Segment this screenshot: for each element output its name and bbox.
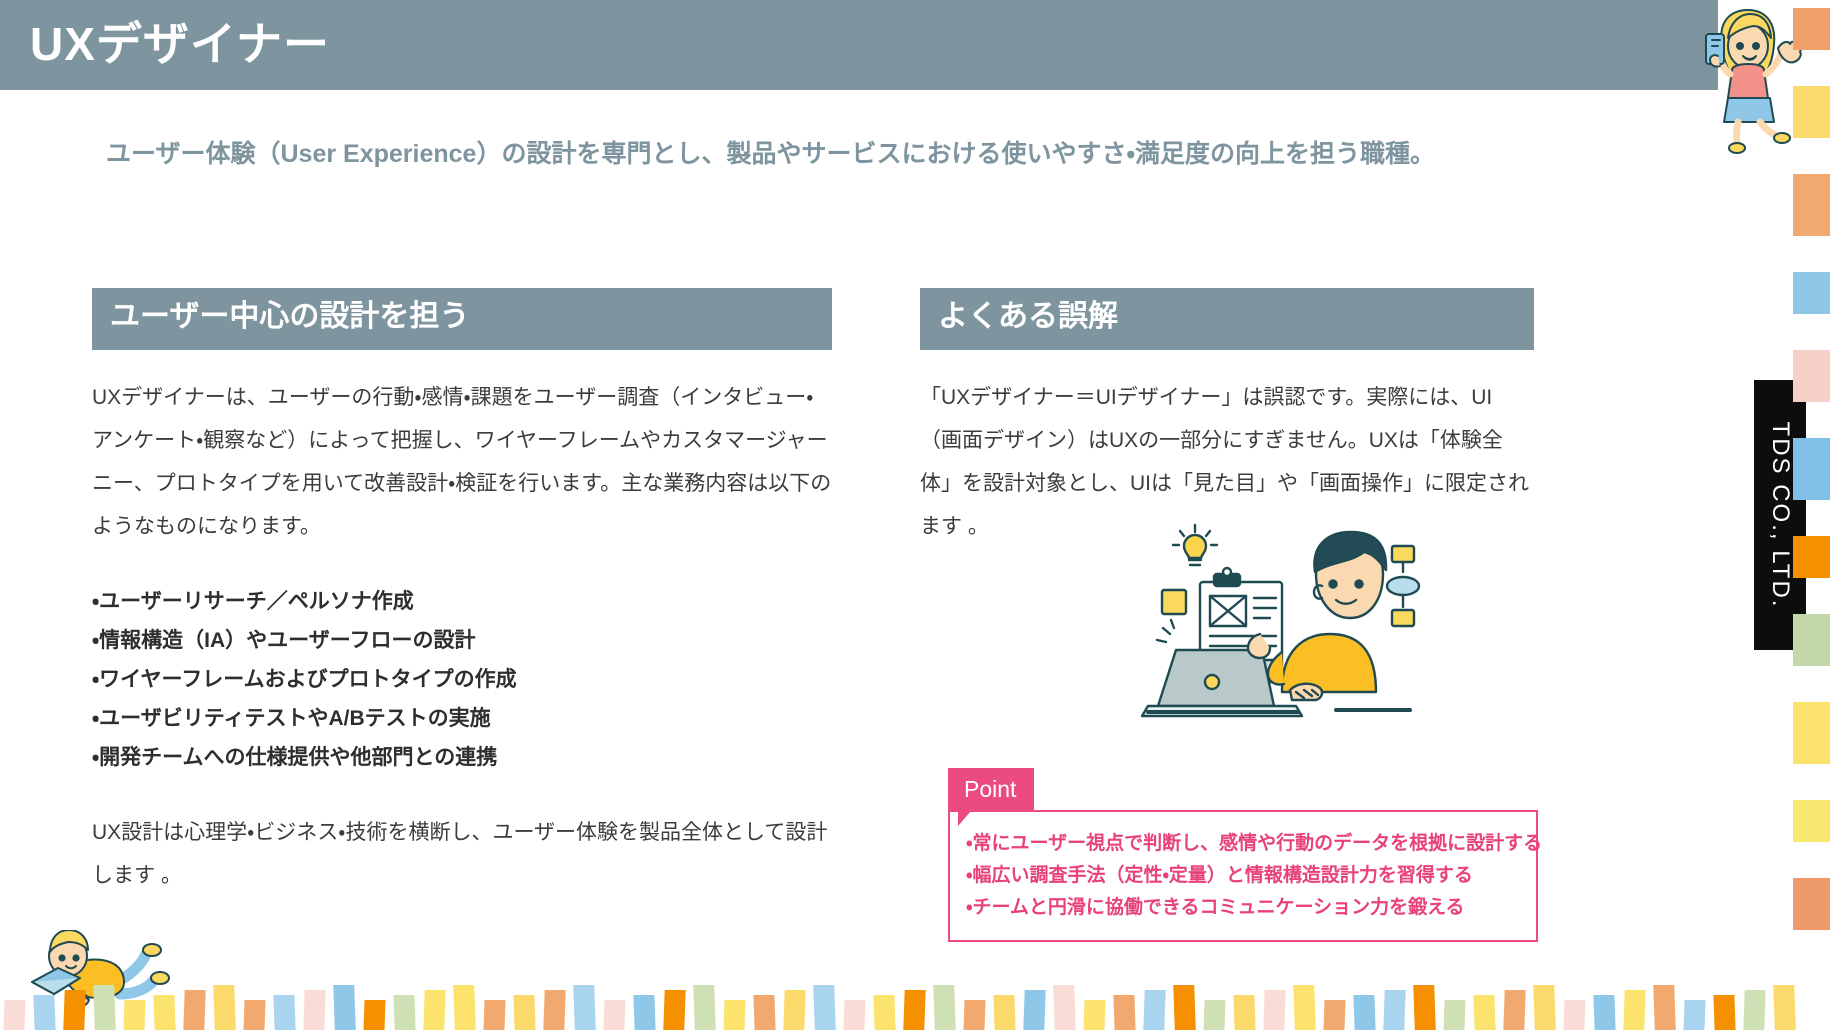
brand-label: TDS CO., LTD. [1766,422,1794,609]
woman-with-smartphone-illustration [1690,4,1802,154]
list-item: ・ワイヤーフレームおよびプロトタイプの作成 [92,660,832,699]
list-item: ・ユーザーリサーチ／ペルソナ作成 [92,582,832,621]
decor-color-block [453,985,476,1030]
decor-color-block [1683,1000,1705,1030]
decor-color-block [1323,1000,1345,1030]
decor-color-block [903,990,925,1030]
page-title: UXデザイナー [30,14,330,74]
list-item: ・情報構造（IA）やユーザーフローの設計 [92,621,832,660]
decor-color-block [1793,438,1830,500]
decor-color-block [333,985,356,1030]
list-item: ・チームと円滑に協働できるコミュニケーション力を鍛える [966,892,1522,924]
point-box-body: ・常にユーザー視点で判断し、感情や行動のデータを根拠に設計する ・幅広い調査手法… [948,810,1538,942]
decor-color-block [783,990,805,1030]
decor-color-block [1383,990,1405,1030]
decor-color-block [1593,995,1615,1030]
decor-color-block [933,985,956,1030]
decor-color-block [483,1000,505,1030]
decor-color-block [813,985,836,1030]
decor-color-block [1743,990,1765,1030]
decor-color-block [1793,8,1830,50]
decor-color-block [1083,1000,1105,1030]
decor-color-block [993,995,1015,1030]
decor-color-block [1413,985,1436,1030]
decor-color-block [1793,536,1830,578]
decor-color-block [243,1000,265,1030]
point-callout: Point ・常にユーザー視点で判断し、感情や行動のデータを根拠に設計する ・幅… [948,768,1538,942]
decor-color-block [1773,985,1796,1030]
decor-color-block [363,1000,385,1030]
decor-color-block [693,985,716,1030]
left-paragraph: UXデザイナーは、ユーザーの行動・感情・課題をユーザー調査（インタビュー・アンケ… [92,376,832,548]
point-bullet-list: ・常にユーザー視点で判断し、感情や行動のデータを根拠に設計する ・幅広い調査手法… [966,828,1522,924]
decor-color-block [633,995,655,1030]
decor-color-block [1793,800,1830,842]
left-bullet-list: ・ユーザーリサーチ／ペルソナ作成 ・情報構造（IA）やユーザーフローの設計 ・ワ… [92,582,832,777]
decor-color-block [153,995,175,1030]
decor-color-block [1563,1000,1585,1030]
decor-color-block [1203,1000,1225,1030]
decor-color-block [843,1000,865,1030]
list-item: ・常にユーザー視点で判断し、感情や行動のデータを根拠に設計する [966,828,1522,860]
decor-color-block [93,985,116,1030]
right-decorative-strip [1793,0,1830,1030]
decor-color-block [543,990,565,1030]
decor-color-block [1793,878,1830,930]
decor-color-block [123,1000,145,1030]
decor-color-block [753,995,775,1030]
decor-color-block [1793,702,1830,764]
decor-color-block [1623,990,1645,1030]
decor-color-block [1503,990,1525,1030]
decor-color-block [1653,985,1676,1030]
decor-color-block [1023,990,1045,1030]
decor-color-block [213,985,236,1030]
decor-color-block [1263,990,1285,1030]
list-item: ・幅広い調査手法（定性・定量）と情報構造設計力を習得する [966,860,1522,892]
decor-color-block [183,990,205,1030]
decor-color-block [3,1000,25,1030]
decor-color-block [963,1000,985,1030]
slide-page: UXデザイナー ユーザー体験（User Experience）の設計を専門とし、… [0,0,1830,1030]
person-at-laptop-illustration [1140,500,1430,720]
left-section-heading: ユーザー中心の設計を担う [92,288,832,350]
decor-color-block [1793,614,1830,666]
decor-color-block [1113,995,1135,1030]
intro-paragraph: ユーザー体験（User Experience）の設計を専門とし、製品やサービスに… [106,128,1451,181]
point-tag-label: Point [948,768,1034,811]
list-item: ・開発チームへの仕様提供や他部門との連携 [92,738,832,777]
list-item: ・ユーザビリティテストやA/Bテストの実施 [92,699,832,738]
decor-color-block [513,995,535,1030]
decor-color-block [33,995,55,1030]
decor-color-block [63,990,85,1030]
decor-color-block [393,995,415,1030]
decor-color-block [1793,350,1830,402]
decor-color-block [1793,174,1830,236]
decor-color-block [1443,1000,1465,1030]
decor-color-block [1233,995,1255,1030]
left-column: ユーザー中心の設計を担う UXデザイナーは、ユーザーの行動・感情・課題をユーザー… [92,288,832,897]
decor-color-block [1353,995,1375,1030]
decor-color-block [573,985,596,1030]
decor-color-block [1293,985,1316,1030]
decor-color-block [603,1000,625,1030]
decor-color-block [303,990,325,1030]
decor-color-block [1713,995,1735,1030]
left-closing-paragraph: UX設計は心理学・ビジネス・技術を横断し、ユーザー体験を製品全体として設計します… [92,811,832,897]
decor-color-block [1793,86,1830,138]
bottom-decorative-strip [0,984,1830,1030]
decor-color-block [423,990,445,1030]
decor-color-block [663,990,685,1030]
title-band: UXデザイナー [0,0,1718,90]
decor-color-block [1053,985,1076,1030]
decor-color-block [1473,995,1495,1030]
decor-color-block [1143,990,1165,1030]
decor-color-block [873,995,895,1030]
decor-color-block [273,995,295,1030]
decor-color-block [1533,985,1556,1030]
decor-color-block [1173,985,1196,1030]
right-section-heading: よくある誤解 [920,288,1534,350]
decor-color-block [1793,272,1830,314]
decor-color-block [723,1000,745,1030]
